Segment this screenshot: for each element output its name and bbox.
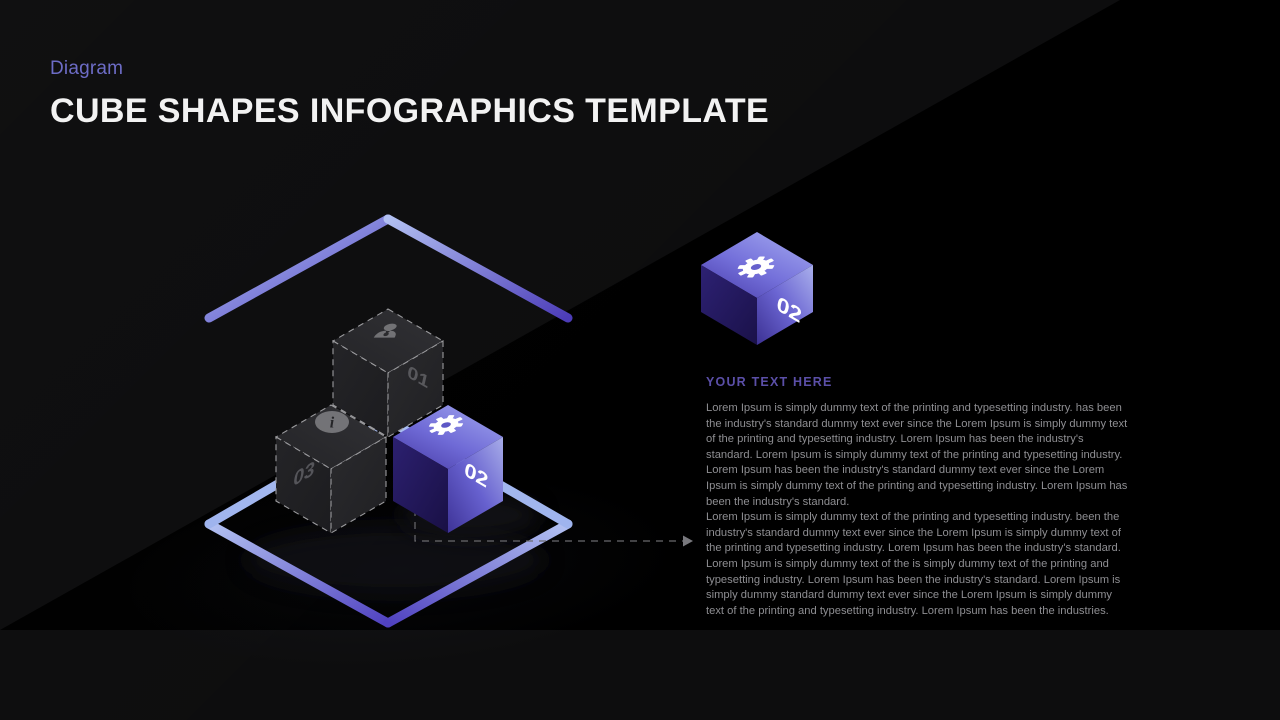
callout-cube-02[interactable]: 02 <box>701 232 813 345</box>
section-heading: YOUR TEXT HERE <box>706 375 833 389</box>
wire-edge-top-right <box>388 219 568 318</box>
wire-edge-top-left <box>209 219 388 318</box>
body-paragraph-2: Lorem Ipsum is simply dummy text of the … <box>706 510 1132 619</box>
svg-text:i: i <box>330 414 335 431</box>
body-copy: Lorem Ipsum is simply dummy text of the … <box>706 401 1132 619</box>
slide-canvas: Diagram CUBE SHAPES INFOGRAPHICS TEMPLAT… <box>0 0 1280 720</box>
info-icon: i <box>315 411 349 433</box>
body-paragraph-1: Lorem Ipsum is simply dummy text of the … <box>706 401 1132 510</box>
